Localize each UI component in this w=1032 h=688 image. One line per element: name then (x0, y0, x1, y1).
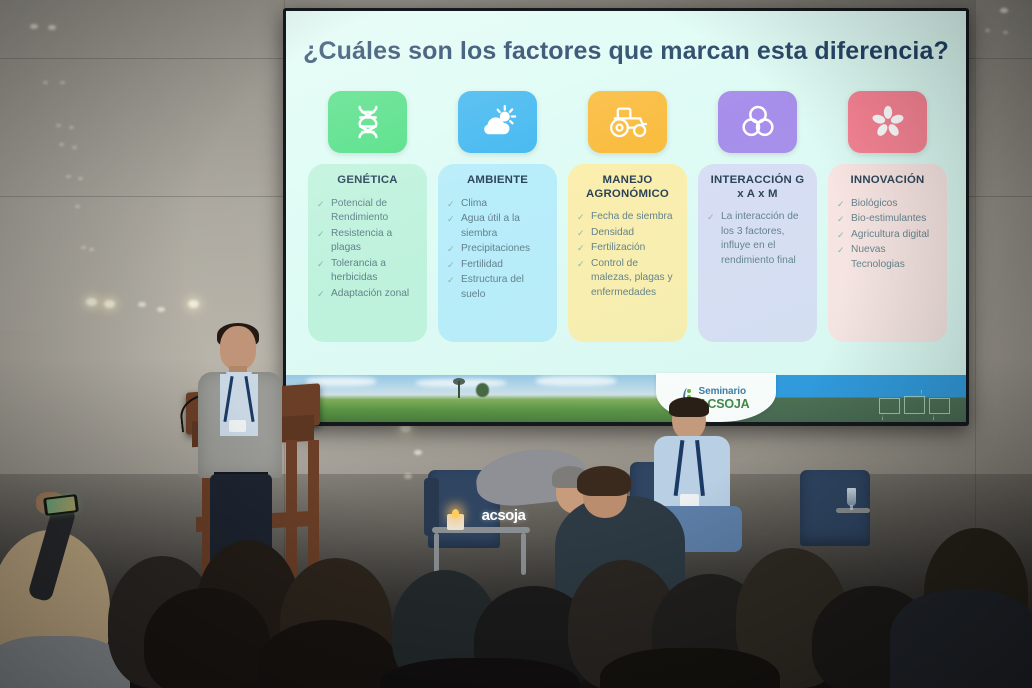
card-body: AMBIENTE ✓Clima ✓Agua útil a la siembra … (438, 164, 557, 342)
light-reflection (188, 300, 199, 308)
light-reflection (78, 177, 83, 180)
check-icon: ✓ (577, 257, 585, 272)
check-icon: ✓ (447, 242, 455, 257)
light-reflection (59, 143, 64, 146)
light-reflection (75, 205, 80, 208)
light-reflection (43, 81, 48, 84)
factor-card-ambiente: AMBIENTE ✓Clima ✓Agua útil a la siembra … (438, 91, 557, 342)
check-icon: ✓ (317, 257, 325, 272)
list-item: ✓Fertilización (577, 241, 678, 256)
list-item: ✓Resistencia a plagas (317, 227, 418, 256)
check-icon: ✓ (447, 212, 455, 227)
check-icon: ✓ (837, 228, 845, 243)
podium-leg (308, 440, 319, 570)
check-icon: ✓ (837, 197, 845, 212)
list-item: ✓Control de malezas, plagas y enfermedad… (577, 257, 678, 301)
sun-cloud-icon (477, 102, 519, 142)
flower-icon (868, 102, 908, 142)
check-icon: ✓ (447, 258, 455, 273)
check-icon: ✓ (317, 197, 325, 212)
presentation-slide: ¿Cuáles son los factores que marcan esta… (286, 11, 966, 422)
list-item: ✓Agricultura digital (837, 228, 938, 243)
panelist-hair (669, 397, 709, 417)
light-reflection (81, 246, 86, 249)
list-item: ✓Fertilidad (447, 258, 548, 273)
list-item: ✓Bio-estimulantes (837, 212, 938, 227)
card-bullets: ✓Clima ✓Agua útil a la siembra ✓Precipit… (447, 197, 548, 303)
light-reflection (89, 248, 94, 251)
card-bullets: ✓Biológicos ✓Bio-estimulantes ✓Agricultu… (837, 197, 938, 273)
factor-card-innovacion: INNOVACIÓN ✓Biológicos ✓Bio-estimulantes… (828, 91, 947, 342)
list-item: ✓Precipitaciones (447, 242, 548, 257)
list-item: ✓Adaptación zonal (317, 287, 418, 302)
check-icon: ✓ (577, 226, 585, 241)
check-icon: ✓ (577, 210, 585, 225)
light-reflection (1003, 31, 1008, 34)
speech-bubbles-icon (879, 396, 950, 414)
light-reflection (56, 124, 61, 127)
list-item: ✓Densidad (577, 226, 678, 241)
audience-body (890, 590, 1032, 688)
card-title: INTERACCIÓN G x A x M (707, 174, 808, 201)
factor-card-manejo-agronomico: MANEJO AGRONÓMICO ✓Fecha de siembra ✓Den… (568, 91, 687, 342)
soybean-field-photo (286, 375, 684, 422)
venn-circles-icon (738, 102, 778, 142)
check-icon: ✓ (317, 227, 325, 242)
windmill (458, 381, 460, 398)
list-item: ✓Tolerancia a herbicidas (317, 257, 418, 286)
check-icon: ✓ (837, 212, 845, 227)
venn-circles-icon-tile (718, 91, 797, 153)
list-item: ✓La interacción de los 3 factores, influ… (707, 210, 808, 268)
tractor-icon-tile (588, 91, 667, 153)
name-badge (229, 420, 246, 432)
light-reflection (414, 450, 422, 455)
card-body: INTERACCIÓN G x A x M ✓La interacción de… (698, 164, 817, 342)
wall-sheen (975, 0, 1032, 470)
light-reflection (104, 300, 115, 308)
card-title: MANEJO AGRONÓMICO (577, 174, 678, 201)
factor-card-genetica: GENÉTICA ✓Potencial de Rendimiento ✓Resi… (308, 91, 427, 342)
tractor-icon (606, 103, 650, 141)
list-item: ✓Agua útil a la siembra (447, 212, 548, 241)
presenter-head (220, 326, 256, 370)
factor-card-interaccion: INTERACCIÓN G x A x M ✓La interacción de… (698, 91, 817, 342)
card-body: GENÉTICA ✓Potencial de Rendimiento ✓Resi… (308, 164, 427, 342)
light-reflection (48, 25, 56, 30)
list-item: ✓Nuevas Tecnologias (837, 243, 938, 272)
slide-title: ¿Cuáles son los factores que marcan esta… (286, 37, 966, 66)
dna-icon (348, 102, 388, 142)
conference-room-scene: ¿Cuáles son los factores que marcan esta… (0, 0, 1032, 688)
check-icon: ✓ (707, 210, 715, 225)
audience-body (600, 648, 780, 688)
list-item: ✓Biológicos (837, 197, 938, 212)
dna-icon-tile (328, 91, 407, 153)
side-table (836, 508, 870, 513)
card-bullets: ✓Fecha de siembra ✓Densidad ✓Fertilizaci… (577, 210, 678, 301)
water-glass (847, 488, 856, 506)
list-item: ✓Estructura del suelo (447, 273, 548, 302)
sun-cloud-icon-tile (458, 91, 537, 153)
card-bullets: ✓La interacción de los 3 factores, influ… (707, 210, 808, 268)
light-reflection (66, 175, 71, 178)
presenter-at-podium (196, 326, 292, 576)
light-reflection (86, 298, 97, 306)
check-icon: ✓ (577, 241, 585, 256)
flower-icon-tile (848, 91, 927, 153)
wall-sheen (0, 0, 290, 330)
card-bullets: ✓Potencial de Rendimiento ✓Resistencia a… (317, 197, 418, 302)
light-reflection (69, 126, 74, 129)
card-body: INNOVACIÓN ✓Biológicos ✓Bio-estimulantes… (828, 164, 947, 342)
list-item: ✓Clima (447, 197, 548, 212)
light-reflection (157, 307, 165, 312)
tree (476, 383, 489, 397)
audience-head (144, 588, 270, 688)
slide-footer: Seminario ACSOJA (286, 375, 966, 422)
side-table-leg (434, 533, 439, 575)
light-reflection (1000, 8, 1008, 13)
logo-top-text: Seminario (699, 387, 750, 397)
card-title: AMBIENTE (447, 174, 548, 188)
list-item: ✓Potencial de Rendimiento (317, 197, 418, 226)
candle (447, 514, 464, 530)
check-icon: ✓ (447, 197, 455, 212)
factor-cards-row: GENÉTICA ✓Potencial de Rendimiento ✓Resi… (308, 91, 944, 371)
card-title: GENÉTICA (317, 174, 418, 188)
light-reflection (30, 24, 38, 29)
check-icon: ✓ (837, 243, 845, 258)
check-icon: ✓ (317, 287, 325, 302)
check-icon: ✓ (447, 273, 455, 288)
panelist-hair (577, 466, 631, 496)
card-title: INNOVACIÓN (837, 174, 938, 188)
list-item: ✓Fecha de siembra (577, 210, 678, 225)
light-reflection (60, 81, 65, 84)
light-reflection (985, 29, 990, 32)
light-reflection (72, 146, 77, 149)
card-body: MANEJO AGRONÓMICO ✓Fecha de siembra ✓Den… (568, 164, 687, 342)
light-reflection (138, 302, 146, 307)
